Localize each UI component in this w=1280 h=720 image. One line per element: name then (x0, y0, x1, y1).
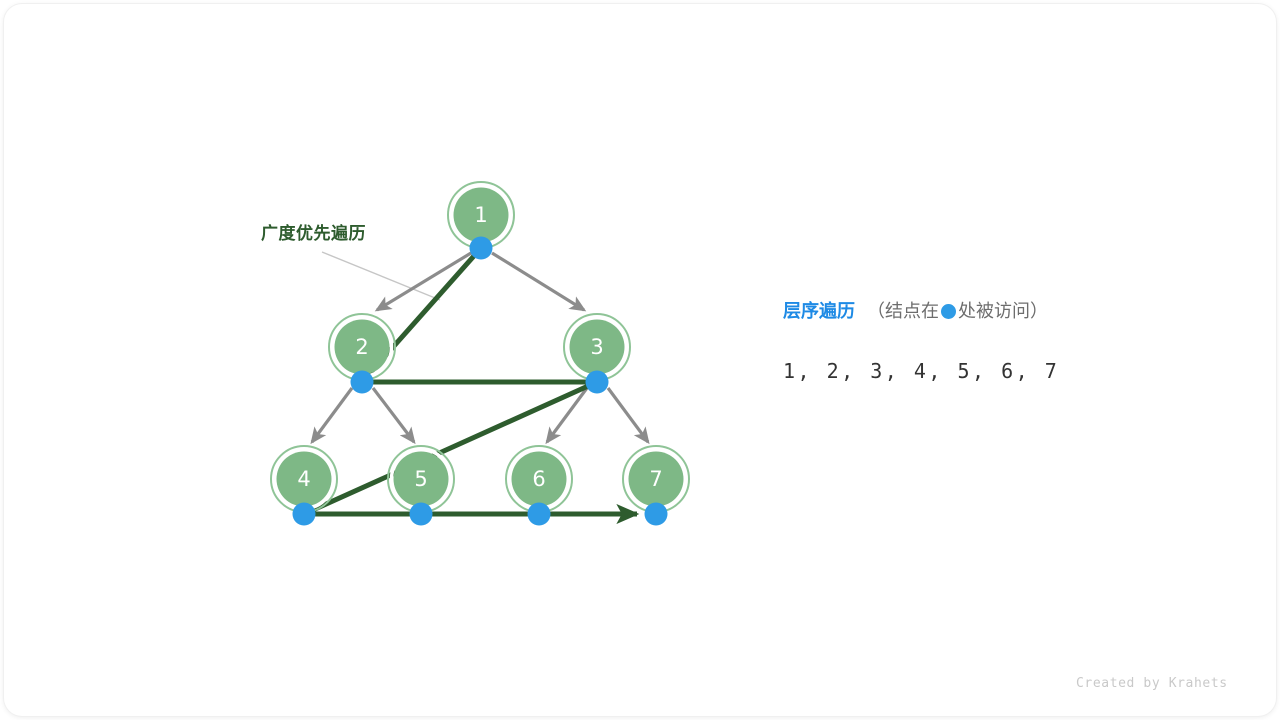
visit-dot-node-5 (410, 503, 433, 526)
visit-dot-node-3 (586, 371, 609, 394)
tree-edge-3-7 (608, 388, 648, 442)
tree-node-7[interactable]: 7 (623, 446, 689, 512)
tree-node-5[interactable]: 5 (388, 446, 454, 512)
tree-node-label: 6 (532, 467, 545, 491)
diagram-page: 1 2 3 4 (0, 0, 1280, 720)
tree-edge-2-4 (312, 388, 352, 442)
legend-panel: 层序遍历（结点在处被访问） 1, 2, 3, 4, 5, 6, 7 (783, 301, 1203, 383)
tree-node-label: 3 (590, 335, 603, 359)
legend-note-prefix: （结点在 (867, 301, 939, 322)
legend-heading: 层序遍历 (783, 301, 855, 322)
legend-heading-row: 层序遍历（结点在处被访问） (783, 301, 1203, 323)
visit-dot-node-4 (293, 503, 316, 526)
legend-note-suffix: 处被访问） (958, 301, 1048, 322)
tree-node-label: 2 (355, 335, 368, 359)
visit-dot-icon (941, 304, 956, 319)
tree-node-label: 4 (297, 467, 310, 491)
tree-node-label: 5 (414, 467, 427, 491)
traversal-sequence: 1, 2, 3, 4, 5, 6, 7 (783, 359, 1203, 383)
tree-node-label: 1 (474, 203, 487, 227)
visit-dot-node-7 (645, 503, 668, 526)
visit-dot-node-2 (351, 371, 374, 394)
tree-edge-2-5 (373, 388, 414, 442)
tree-node-label: 7 (649, 467, 662, 491)
annotation-leader-line (322, 252, 440, 300)
tree-edge-1-2 (377, 253, 471, 310)
credit-text: Created by Krahets (1076, 676, 1228, 691)
visit-dot-node-1 (470, 237, 493, 260)
bfs-annotation-label: 广度优先遍历 (261, 219, 366, 244)
tree-node-6[interactable]: 6 (506, 446, 572, 512)
tree-node-4[interactable]: 4 (271, 446, 337, 512)
tree-node-3[interactable]: 3 (564, 314, 630, 380)
visit-dot-node-6 (528, 503, 551, 526)
tree-edge-1-3 (492, 253, 584, 310)
tree-node-2[interactable]: 2 (329, 314, 395, 380)
